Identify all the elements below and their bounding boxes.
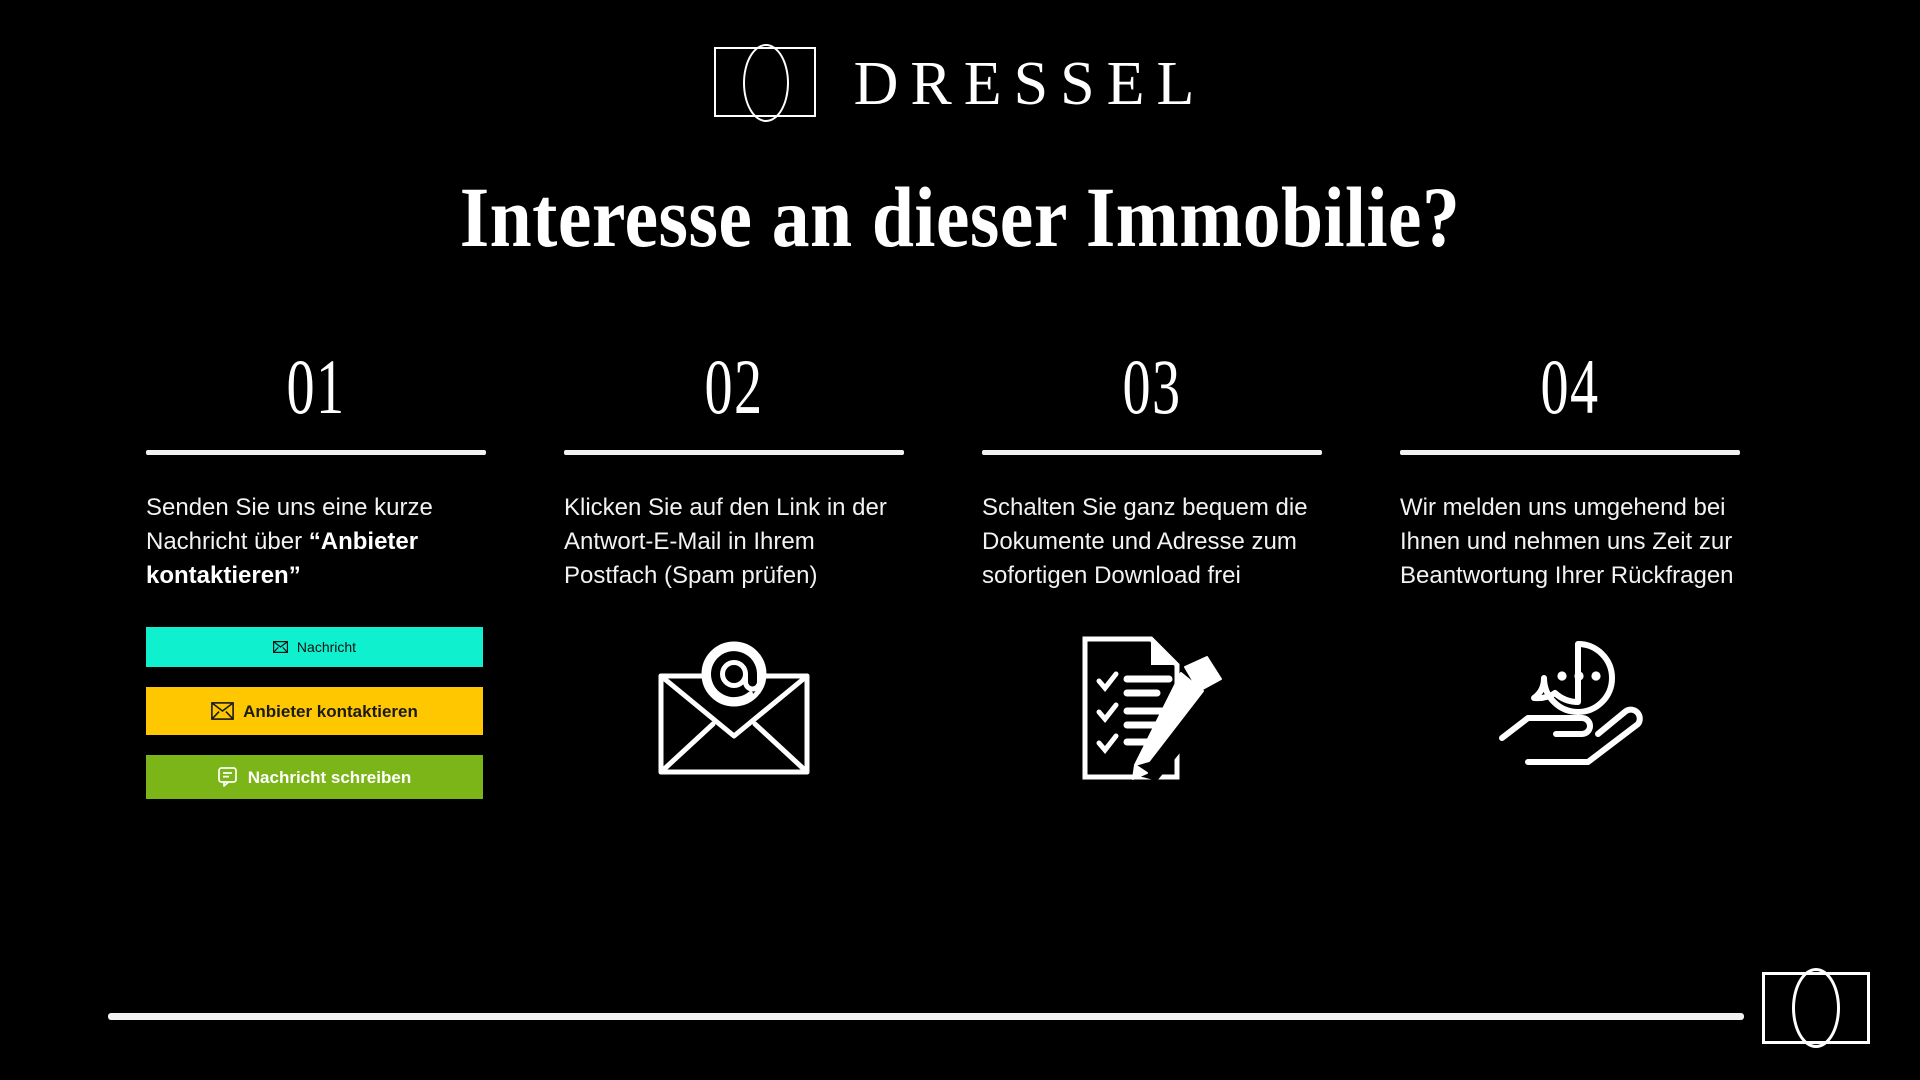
step-divider — [146, 450, 486, 455]
page-title: Interesse an dieser Immobilie? — [115, 172, 1805, 262]
step-divider — [564, 450, 904, 455]
document-checklist-pen-icon — [982, 633, 1322, 783]
nachricht-button[interactable]: Nachricht — [146, 627, 483, 667]
step-number: 01 — [194, 348, 439, 428]
step-card-04: 04 Wir melden uns umgehend bei Ihnen und… — [1400, 348, 1740, 799]
brand-wordmark: DRESSEL — [848, 53, 1207, 115]
step-card-03: 03 Schalten Sie ganz bequem die Dokument… — [982, 348, 1322, 799]
step-card-01: 01 Senden Sie uns eine kurze Nachricht ü… — [146, 348, 486, 799]
hand-holding-chat-bubble-icon — [1400, 633, 1740, 783]
dressel-footer-logo-icon — [1762, 972, 1874, 1048]
slide-root: { "brand": { "wordmark": "DRESSEL", "log… — [0, 0, 1920, 1080]
step-divider — [982, 450, 1322, 455]
step-number: 04 — [1448, 348, 1693, 428]
envelope-icon — [273, 641, 288, 653]
nachricht-schreiben-button[interactable]: Nachricht schreiben — [146, 755, 483, 799]
anbieter-kontaktieren-button-label: Anbieter kontaktieren — [243, 703, 418, 720]
step-number: 02 — [612, 348, 857, 428]
step-description: Schalten Sie ganz bequem die Dokumente u… — [982, 491, 1322, 593]
anbieter-kontaktieren-button[interactable]: Anbieter kontaktieren — [146, 687, 483, 735]
step-description: Senden Sie uns eine kurze Nachricht über… — [146, 491, 486, 593]
cta-button-stack: Nachricht Anbieter kontaktieren — [146, 627, 483, 799]
step-card-02: 02 Klicken Sie auf den Link in der Antwo… — [564, 348, 904, 799]
nachricht-button-label: Nachricht — [297, 640, 356, 654]
footer-logo-oval-shape — [1792, 968, 1840, 1048]
step-description: Wir melden uns umgehend bei Ihnen und ne… — [1400, 491, 1740, 593]
envelope-icon — [211, 702, 234, 720]
step-number: 03 — [1030, 348, 1275, 428]
message-bubble-icon — [218, 767, 239, 787]
brand-header: DRESSEL — [0, 44, 1920, 124]
step-divider — [1400, 450, 1740, 455]
dressel-square-oval-logo-icon — [714, 47, 822, 121]
step-description: Klicken Sie auf den Link in der Antwort-… — [564, 491, 904, 593]
email-at-envelope-icon — [564, 633, 904, 783]
logo-oval-shape — [743, 44, 789, 122]
steps-row: 01 Senden Sie uns eine kurze Nachricht ü… — [0, 348, 1920, 799]
footer-divider — [108, 1013, 1744, 1020]
nachricht-schreiben-button-label: Nachricht schreiben — [248, 769, 411, 786]
